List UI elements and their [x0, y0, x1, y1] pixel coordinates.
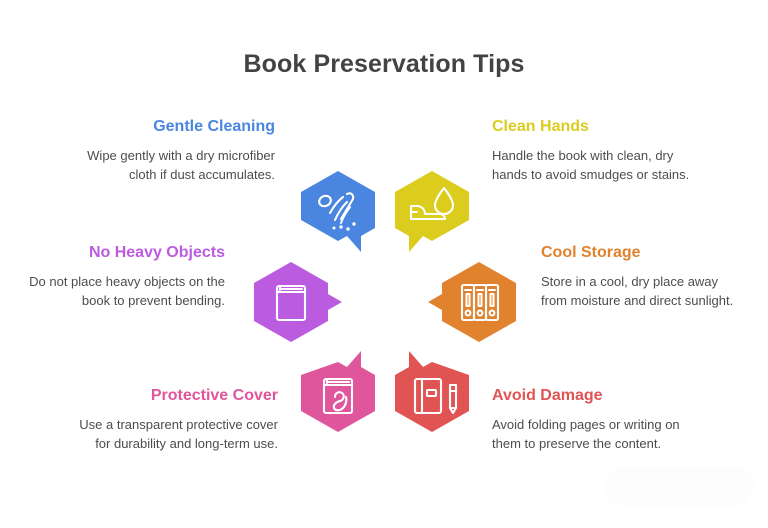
hexagon-shape: [428, 262, 516, 342]
tip-body-avoid-damage: Avoid folding pages or writing on them t…: [492, 415, 692, 453]
tip-body-clean-hands: Handle the book with clean, dry hands to…: [492, 146, 692, 184]
hexagon-shape: [395, 171, 469, 252]
tip-body-protective-cover: Use a transparent protective cover for d…: [78, 415, 278, 453]
tip-text-cool-storage: Cool Storage Store in a cool, dry place …: [541, 242, 741, 310]
tip-text-protective-cover: Protective Cover Use a transparent prote…: [78, 385, 278, 453]
hexagon-shape: [254, 262, 342, 342]
tip-text-gentle-cleaning: Gentle Cleaning Wipe gently with a dry m…: [75, 116, 275, 184]
hexagon-shape: [395, 351, 469, 432]
tip-badge-clean-hands[interactable]: [393, 170, 471, 258]
tip-text-clean-hands: Clean Hands Handle the book with clean, …: [492, 116, 692, 184]
tip-badge-no-heavy-objects[interactable]: [252, 258, 330, 346]
watermark-shape: [604, 466, 754, 506]
tip-body-cool-storage: Store in a cool, dry place away from moi…: [541, 272, 741, 310]
tip-badge-gentle-cleaning[interactable]: [299, 170, 377, 258]
tip-text-no-heavy-objects: No Heavy Objects Do not place heavy obje…: [25, 242, 225, 310]
tip-heading-no-heavy-objects: No Heavy Objects: [25, 242, 225, 263]
tip-text-avoid-damage: Avoid Damage Avoid folding pages or writ…: [492, 385, 692, 453]
tip-body-no-heavy-objects: Do not place heavy objects on the book t…: [25, 272, 225, 310]
tip-badge-protective-cover[interactable]: [299, 345, 377, 433]
tip-body-gentle-cleaning: Wipe gently with a dry microfiber cloth …: [75, 146, 275, 184]
tip-heading-avoid-damage: Avoid Damage: [492, 385, 692, 406]
tip-badge-avoid-damage[interactable]: [393, 345, 471, 433]
tip-badge-cool-storage[interactable]: [440, 258, 518, 346]
tip-heading-gentle-cleaning: Gentle Cleaning: [75, 116, 275, 137]
hexagon-shape: [301, 171, 375, 252]
tip-heading-cool-storage: Cool Storage: [541, 242, 741, 263]
page-title: Book Preservation Tips: [0, 50, 768, 79]
infographic-canvas: Book Preservation Tips Gentle Cleaning W…: [0, 0, 768, 528]
tip-heading-clean-hands: Clean Hands: [492, 116, 692, 137]
tip-heading-protective-cover: Protective Cover: [78, 385, 278, 406]
